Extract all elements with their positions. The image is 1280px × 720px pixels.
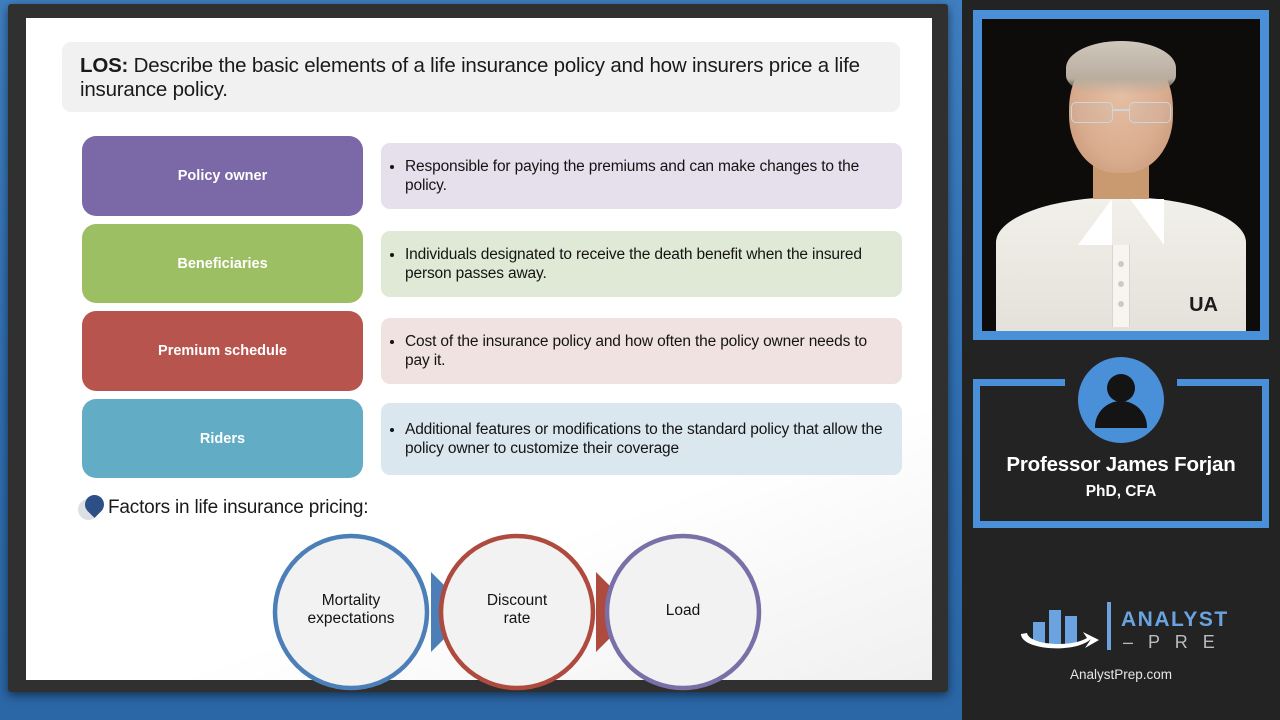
element-label-text: Premium schedule: [158, 343, 287, 359]
presenter-panel: UA Professor James Forjan PhD, CFA: [962, 0, 1280, 720]
element-label-text: Beneficiaries: [177, 256, 267, 272]
factors-heading-row: Factors in life insurance pricing:: [78, 494, 368, 522]
teardrop-bullet-icon: [78, 494, 108, 522]
brand-block: ANALYST – P R E P – AnalystPrep.com: [962, 596, 1280, 682]
los-statement: Describe the basic elements of a life in…: [80, 54, 860, 101]
table-row: Premium schedule Cost of the insurance p…: [82, 311, 902, 391]
bar-3: [1065, 616, 1077, 644]
presenter-video[interactable]: UA: [973, 10, 1269, 340]
shirt-button: [1118, 261, 1124, 267]
bar-2: [1049, 610, 1061, 644]
element-description-policy-owner: Responsible for paying the premiums and …: [381, 143, 902, 209]
lecture-video-screen: LOS: Describe the basic elements of a li…: [0, 0, 1280, 720]
process-label-load: Load: [618, 602, 748, 620]
process-label-mortality: Mortality expectations: [281, 592, 421, 628]
person-icon: [1107, 374, 1135, 402]
element-label-premium-schedule: Premium schedule: [82, 311, 363, 391]
table-row: Riders Additional features or modificati…: [82, 399, 902, 478]
slide-canvas: LOS: Describe the basic elements of a li…: [26, 18, 932, 680]
table-row: Beneficiaries Individuals designated to …: [82, 224, 902, 303]
element-label-policy-owner: Policy owner: [82, 136, 363, 216]
element-description-text: Responsible for paying the premiums and …: [405, 157, 888, 195]
element-description-text: Additional features or modifications to …: [405, 420, 888, 458]
element-label-riders: Riders: [82, 399, 363, 478]
presenter-name-card: Professor James Forjan PhD, CFA: [973, 357, 1269, 528]
los-prefix: LOS:: [80, 54, 128, 77]
element-label-beneficiaries: Beneficiaries: [82, 224, 363, 303]
presenter-credentials: PhD, CFA: [973, 483, 1269, 501]
logo-divider: [1107, 602, 1111, 650]
process-label-discount-rate: Discount rate: [452, 592, 582, 628]
presenter-name: Professor James Forjan: [973, 453, 1269, 477]
los-text: LOS: Describe the basic elements of a li…: [80, 54, 884, 102]
factors-heading-text: Factors in life insurance pricing:: [108, 497, 368, 519]
policy-elements-list: Policy owner Responsible for paying the …: [82, 136, 902, 486]
pricing-factors-process-diagram: Mortality expectations Discount rate Loa…: [256, 530, 796, 695]
element-description-text: Cost of the insurance policy and how oft…: [405, 332, 888, 370]
logo-word-analyst: ANALYST: [1121, 608, 1229, 631]
glasses-icon: [1071, 102, 1171, 122]
table-row: Policy owner Responsible for paying the …: [82, 136, 902, 216]
presenter-video-image: UA: [982, 19, 1260, 331]
shirt-brand-logo: UA: [1189, 294, 1218, 317]
element-label-text: Policy owner: [178, 168, 267, 184]
presenter-collar-left: [1078, 199, 1112, 245]
element-description-premium-schedule: Cost of the insurance policy and how oft…: [381, 318, 902, 384]
element-description-riders: Additional features or modifications to …: [381, 403, 902, 475]
shirt-button: [1118, 281, 1124, 287]
logo-word-prep: – P R E P –: [1123, 632, 1229, 652]
element-description-text: Individuals designated to receive the de…: [405, 245, 888, 283]
element-label-text: Riders: [200, 431, 245, 447]
los-banner: LOS: Describe the basic elements of a li…: [62, 42, 900, 112]
presenter-hair: [1066, 41, 1176, 95]
presenter-collar-right: [1130, 199, 1164, 245]
analystprep-logo: ANALYST – P R E P –: [1013, 596, 1229, 658]
brand-website: AnalystPrep.com: [962, 667, 1280, 682]
slide-frame: LOS: Describe the basic elements of a li…: [8, 4, 948, 692]
shirt-button: [1118, 301, 1124, 307]
avatar: [1078, 357, 1164, 443]
element-description-beneficiaries: Individuals designated to receive the de…: [381, 231, 902, 297]
logo-svg: ANALYST – P R E P –: [1013, 596, 1229, 658]
slide-region: LOS: Describe the basic elements of a li…: [0, 0, 962, 720]
